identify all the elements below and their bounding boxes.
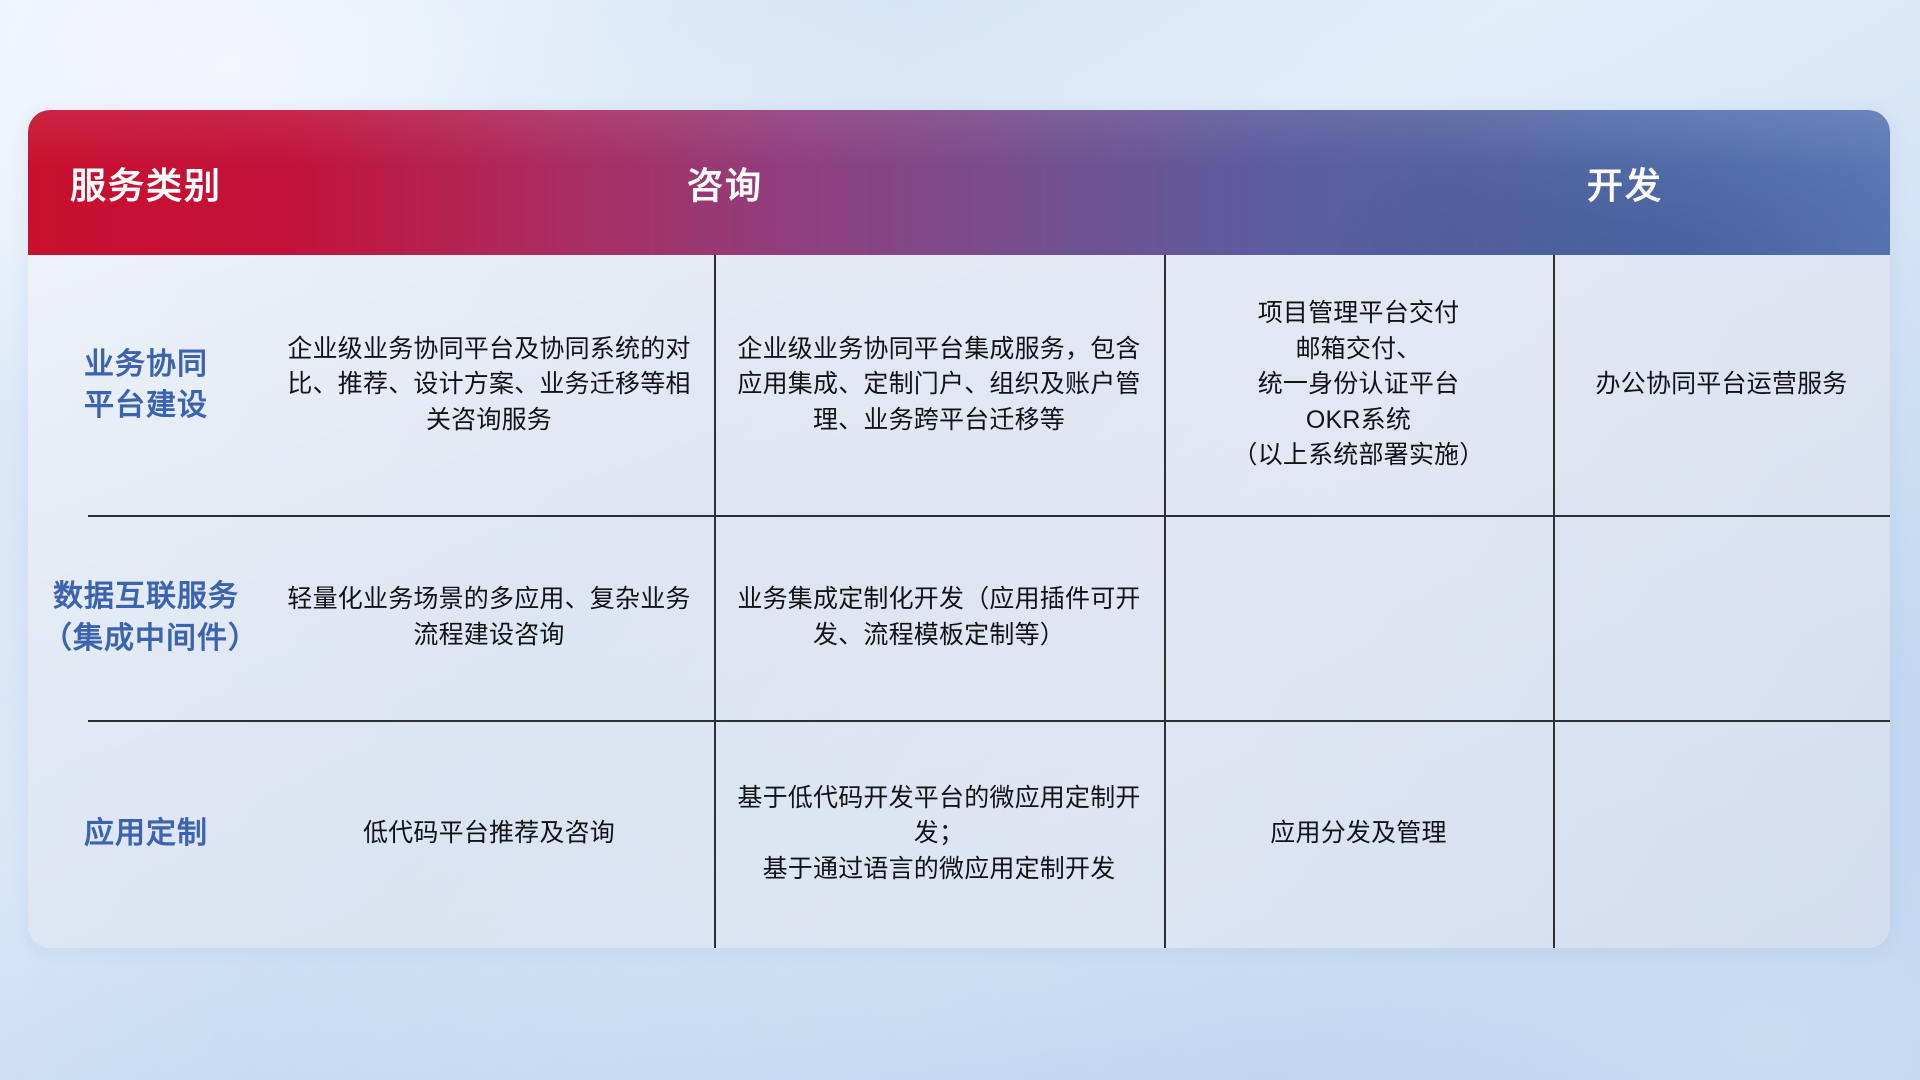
service-matrix-table: 服务类别 咨询 开发 交付 运维 业务协同 平台建设 企业级业务协同平台及协同系… — [28, 110, 1890, 948]
table-body: 业务协同 平台建设 企业级业务协同平台及协同系统的对比、推荐、设计方案、业务迁移… — [28, 255, 1890, 948]
cell-row3-development: 基于低代码开发平台的微应用定制开发； 基于通过语言的微应用定制开发 — [714, 720, 1164, 948]
cell-row3-delivery: 应用分发及管理 — [1164, 720, 1553, 948]
cell-row1-operations: 办公协同平台运营服务 — [1553, 255, 1890, 515]
cell-row3-operations — [1553, 720, 1890, 948]
column-divider-1 — [714, 255, 716, 948]
cell-row1-development: 企业级业务协同平台集成服务，包含应用集成、定制门户、组织及账户管理、业务跨平台迁… — [714, 255, 1164, 515]
cell-row3-consulting: 低代码平台推荐及咨询 — [264, 720, 714, 948]
row-divider-1 — [88, 515, 1890, 517]
cell-row1-delivery: 项目管理平台交付 邮箱交付、 统一身份认证平台 OKR系统 （以上系统部署实施） — [1164, 255, 1553, 515]
cell-row2-operations — [1553, 515, 1890, 720]
column-header-consulting: 咨询 — [500, 157, 950, 209]
row-divider-2 — [88, 720, 1890, 722]
cell-row1-consulting: 企业级业务协同平台及协同系统的对比、推荐、设计方案、业务迁移等相关咨询服务 — [264, 255, 714, 515]
column-header-category: 服务类别 — [28, 157, 264, 209]
column-divider-2 — [1164, 255, 1166, 948]
row-label-business-collaboration: 业务协同 平台建设 — [28, 255, 264, 515]
table-row: 应用定制 低代码平台推荐及咨询 基于低代码开发平台的微应用定制开发； 基于通过语… — [28, 720, 1890, 948]
row-label-application-customization: 应用定制 — [28, 720, 264, 948]
table-row: 数据互联服务 （集成中间件） 轻量化业务场景的多应用、复杂业务流程建设咨询 业务… — [28, 515, 1890, 720]
column-divider-3 — [1553, 255, 1555, 948]
row-label-data-interconnect: 数据互联服务 （集成中间件） — [28, 515, 264, 720]
table-row: 业务协同 平台建设 企业级业务协同平台及协同系统的对比、推荐、设计方案、业务迁移… — [28, 255, 1890, 515]
cell-row2-development: 业务集成定制化开发（应用插件可开发、流程模板定制等） — [714, 515, 1164, 720]
column-header-development: 开发 — [1400, 157, 1850, 209]
table-header-row: 服务类别 咨询 开发 交付 运维 — [28, 110, 1890, 255]
cell-row2-delivery — [1164, 515, 1553, 720]
cell-row2-consulting: 轻量化业务场景的多应用、复杂业务流程建设咨询 — [264, 515, 714, 720]
slide-canvas: 服务类别 咨询 开发 交付 运维 业务协同 平台建设 企业级业务协同平台及协同系… — [0, 0, 1920, 1080]
